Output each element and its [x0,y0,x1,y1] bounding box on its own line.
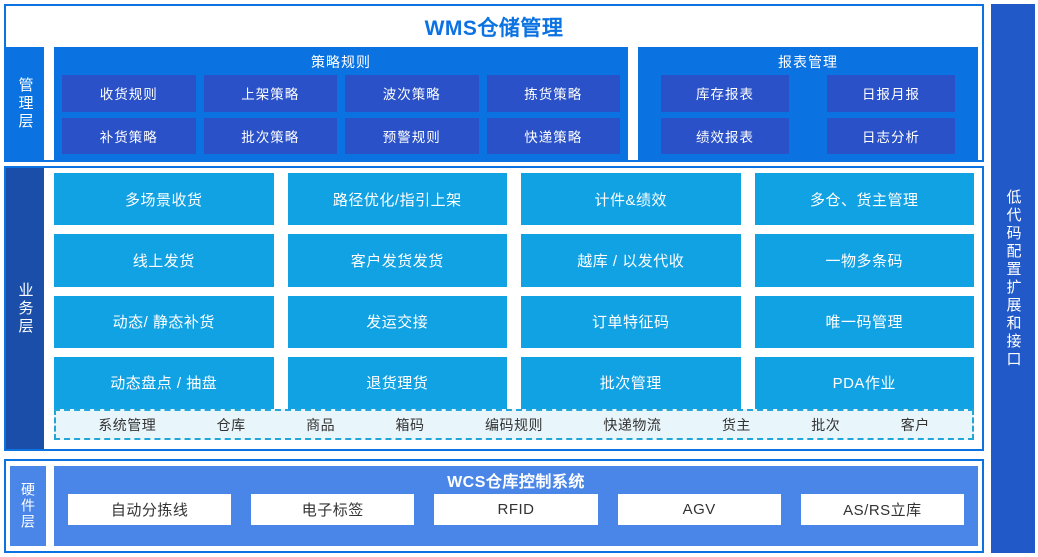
basic-item-case-code[interactable]: 箱码 [396,415,425,435]
chip-picking-strategy[interactable]: 拣货策略 [487,75,621,112]
chip-inventory-report[interactable]: 库存报表 [661,75,789,112]
basic-item-cargo-owner[interactable]: 货主 [722,415,751,435]
chip-daily-monthly-report[interactable]: 日报月报 [827,75,955,112]
page-title: WMS仓储管理 [6,6,982,47]
chip-putaway-strategy[interactable]: 上架策略 [204,75,338,112]
card-dynamic-static-replenish[interactable]: 动态/ 静态补货 [54,296,274,348]
management-panels: 策略规则 收货规则 上架策略 波次策略 拣货策略 补货策略 批次策略 预警规则 … [54,47,978,160]
business-card-grid: 多场景收货 路径优化/指引上架 计件&绩效 多仓、货主管理 线上发货 客户发货发… [50,168,978,409]
hardware-layer-side-label: 硬件层 [10,466,46,546]
card-multi-barcode[interactable]: 一物多条码 [755,234,975,286]
card-cross-docking[interactable]: 越库 / 以发代收 [521,234,741,286]
card-dynamic-stocktaking[interactable]: 动态盘点 / 抽盘 [54,357,274,409]
card-multi-warehouse-owner[interactable]: 多仓、货主管理 [755,173,975,225]
wms-architecture-diagram: WMS仓储管理 管理层 策略规则 收货规则 上架策略 波次策略 拣货策略 补货策… [0,0,1038,557]
wcs-panel: WCS仓库控制系统 自动分拣线 电子标签 RFID AGV AS/RS立库 [54,466,978,546]
hardware-layer-block: 硬件层 WCS仓库控制系统 自动分拣线 电子标签 RFID AGV AS/RS立… [4,459,984,553]
low-code-extension-rail: 低代码配置扩展和接口 [991,4,1035,553]
chip-performance-report[interactable]: 绩效报表 [661,118,789,155]
device-rfid[interactable]: RFID [434,494,597,525]
card-unique-code-management[interactable]: 唯一码管理 [755,296,975,348]
hardware-layer-label-text: 硬件层 [18,482,38,530]
basic-item-warehouse[interactable]: 仓库 [217,415,246,435]
card-path-optimization[interactable]: 路径优化/指引上架 [288,173,508,225]
business-layer-block: 业务层 多场景收货 路径优化/指引上架 计件&绩效 多仓、货主管理 线上发货 客… [4,166,984,451]
card-pda-operation[interactable]: PDA作业 [755,357,975,409]
card-piecework-performance[interactable]: 计件&绩效 [521,173,741,225]
basic-item-customer[interactable]: 客户 [901,415,930,435]
wcs-panel-title: WCS仓库控制系统 [54,466,978,494]
basic-data-row: 系统管理 仓库 商品 箱码 编码规则 快递物流 货主 批次 客户 [54,409,974,440]
card-batch-management[interactable]: 批次管理 [521,357,741,409]
management-layer-block: WMS仓储管理 管理层 策略规则 收货规则 上架策略 波次策略 拣货策略 补货策… [4,4,984,162]
management-layer-side-label: 管理层 [6,47,44,160]
device-asrs-warehouse[interactable]: AS/RS立库 [801,494,964,525]
chip-express-strategy[interactable]: 快递策略 [487,118,621,155]
business-layer-side-label: 业务层 [6,168,44,449]
business-layer-main: 多场景收货 路径优化/指引上架 计件&绩效 多仓、货主管理 线上发货 客户发货发… [50,168,978,449]
chip-replenish-strategy[interactable]: 补货策略 [62,118,196,155]
panel-strategy-rules-grid: 收货规则 上架策略 波次策略 拣货策略 补货策略 批次策略 预警规则 快递策略 [62,75,620,154]
panel-report-management-heading: 报表管理 [646,51,970,75]
chip-batch-strategy[interactable]: 批次策略 [204,118,338,155]
basic-item-batch[interactable]: 批次 [811,415,840,435]
panel-report-management-grid: 库存报表 日报月报 绩效报表 日志分析 [646,75,970,154]
device-auto-sorting-line[interactable]: 自动分拣线 [68,494,231,525]
management-layer-label-text: 管理层 [15,77,36,131]
basic-item-express-logistics[interactable]: 快递物流 [603,415,661,435]
card-shipment-handover[interactable]: 发运交接 [288,296,508,348]
device-electronic-label[interactable]: 电子标签 [251,494,414,525]
chip-receiving-rules[interactable]: 收货规则 [62,75,196,112]
panel-strategy-rules: 策略规则 收货规则 上架策略 波次策略 拣货策略 补货策略 批次策略 预警规则 … [54,47,628,160]
card-return-sorting[interactable]: 退货理货 [288,357,508,409]
wcs-device-grid: 自动分拣线 电子标签 RFID AGV AS/RS立库 [54,494,978,546]
basic-item-coding-rules[interactable]: 编码规则 [485,415,543,435]
basic-item-product[interactable]: 商品 [306,415,335,435]
panel-report-management: 报表管理 库存报表 日报月报 绩效报表 日志分析 [638,47,978,160]
chip-alert-rules[interactable]: 预警规则 [345,118,479,155]
panel-strategy-rules-heading: 策略规则 [62,51,620,75]
low-code-extension-rail-text: 低代码配置扩展和接口 [1006,189,1021,369]
basic-item-system-management[interactable]: 系统管理 [98,415,156,435]
chip-wave-strategy[interactable]: 波次策略 [345,75,479,112]
card-order-feature-code[interactable]: 订单特征码 [521,296,741,348]
card-customer-shipping[interactable]: 客户发货发货 [288,234,508,286]
device-agv[interactable]: AGV [618,494,781,525]
business-layer-label-text: 业务层 [15,282,36,336]
chip-log-analysis[interactable]: 日志分析 [827,118,955,155]
card-online-shipping[interactable]: 线上发货 [54,234,274,286]
card-multi-scene-receiving[interactable]: 多场景收货 [54,173,274,225]
